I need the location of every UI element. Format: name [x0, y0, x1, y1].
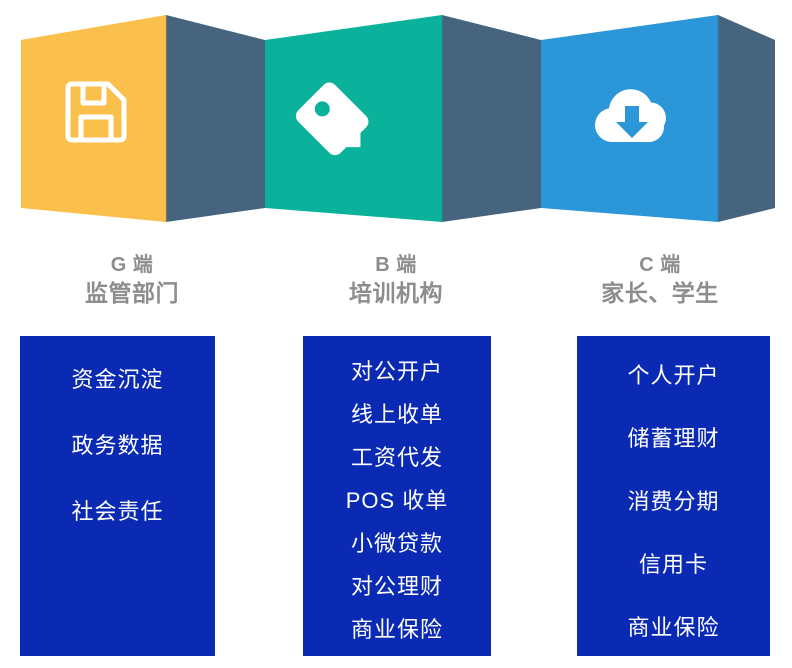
service-cards: 资金沉淀 政务数据 社会责任 对公开户 线上收单 工资代发 POS 收单 小微贷… — [0, 336, 792, 656]
list-item: POS 收单 — [346, 483, 449, 515]
list-item: 储蓄理财 — [627, 421, 719, 453]
list-item: 个人开户 — [627, 358, 719, 390]
panel-side-b-c — [442, 15, 541, 222]
list-item: 信用卡 — [639, 547, 708, 579]
service-card-c: 个人开户 储蓄理财 消费分期 信用卡 商业保险 — [577, 336, 770, 656]
folded-panel-ribbon — [0, 0, 792, 248]
heading-g-sub: 监管部门 — [0, 278, 264, 308]
heading-column-g: G 端 监管部门 — [0, 252, 264, 328]
list-item: 政务数据 — [71, 428, 163, 460]
heading-b-main: B 端 — [264, 252, 528, 278]
list-item: 工资代发 — [351, 440, 443, 472]
heading-c-sub: 家长、学生 — [528, 278, 792, 308]
list-item: 消费分期 — [627, 484, 719, 516]
list-item: 社会责任 — [71, 494, 163, 526]
heading-b-sub: 培训机构 — [264, 278, 528, 308]
list-item: 小微贷款 — [351, 526, 443, 558]
list-item: 线上收单 — [351, 397, 443, 429]
heading-column-c: C 端 家长、学生 — [528, 252, 792, 328]
list-item: 商业保险 — [627, 610, 719, 642]
heading-g-main: G 端 — [0, 252, 264, 278]
service-card-g: 资金沉淀 政务数据 社会责任 — [20, 336, 215, 656]
panel-side-g-b — [166, 15, 265, 222]
panel-side-c-end — [718, 15, 775, 222]
list-item: 商业保险 — [351, 612, 443, 644]
column-headings: G 端 监管部门 B 端 培训机构 C 端 家长、学生 — [0, 252, 792, 328]
heading-column-b: B 端 培训机构 — [264, 252, 528, 328]
service-card-b: 对公开户 线上收单 工资代发 POS 收单 小微贷款 对公理财 商业保险 — [303, 336, 491, 656]
list-item: 资金沉淀 — [71, 362, 163, 394]
list-item: 对公理财 — [351, 569, 443, 601]
heading-c-main: C 端 — [528, 252, 792, 278]
list-item: 对公开户 — [351, 354, 443, 386]
